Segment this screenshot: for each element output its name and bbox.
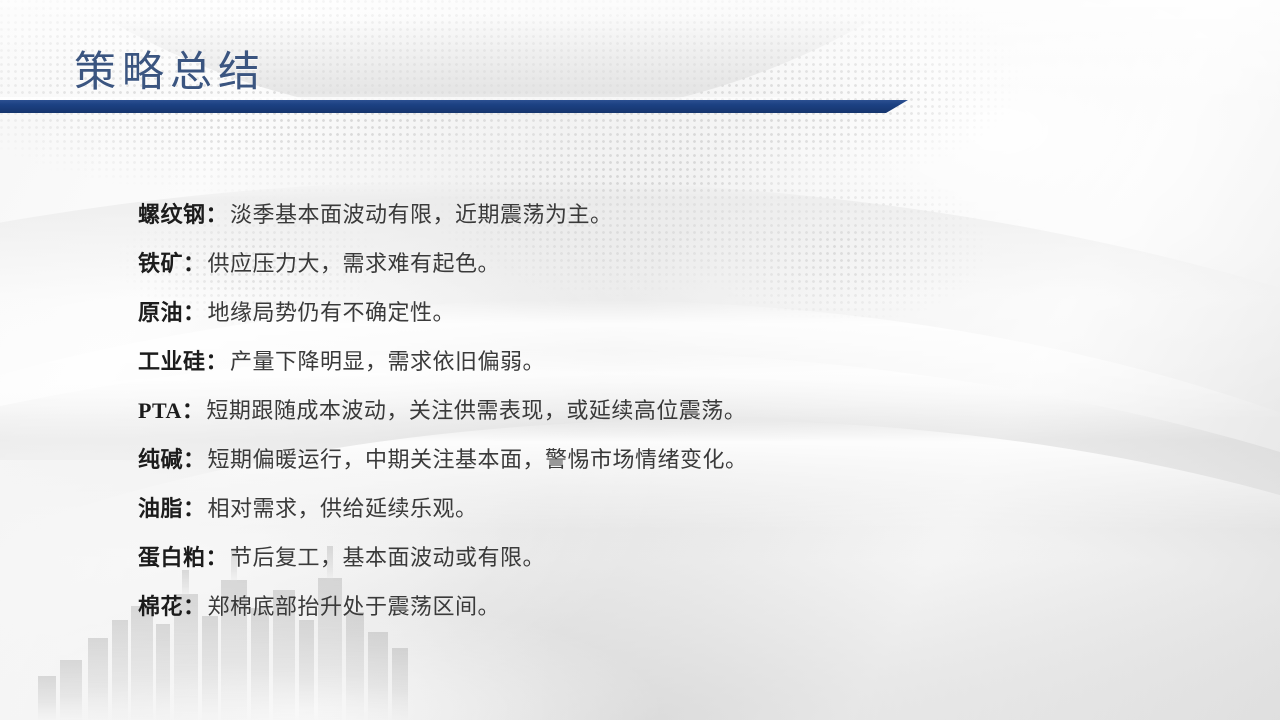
summary-list: 螺纹钢： 淡季基本面波动有限，近期震荡为主。 铁矿： 供应压力大，需求难有起色。…	[0, 188, 1280, 629]
list-item: 原油： 地缘局势仍有不确定性。	[0, 286, 1280, 335]
list-item: 铁矿： 供应压力大，需求难有起色。	[0, 237, 1280, 286]
list-item: 工业硅： 产量下降明显，需求依旧偏弱。	[0, 335, 1280, 384]
commodity-comment: 短期偏暖运行，中期关注基本面，警惕市场情绪变化。	[208, 442, 748, 474]
commodity-label: 棉花：	[138, 589, 206, 621]
commodity-comment: 节后复工，基本面波动或有限。	[230, 540, 545, 572]
list-item: 棉花： 郑棉底部抬升处于震荡区间。	[0, 580, 1280, 629]
list-item: 油脂： 相对需求，供给延续乐观。	[0, 482, 1280, 531]
list-item: 蛋白粕： 节后复工，基本面波动或有限。	[0, 531, 1280, 580]
commodity-comment: 郑棉底部抬升处于震荡区间。	[208, 589, 501, 621]
commodity-label: 油脂：	[138, 491, 206, 523]
commodity-label: PTA：	[138, 393, 204, 425]
page-title: 策略总结	[74, 38, 266, 99]
commodity-label: 铁矿：	[138, 246, 206, 278]
commodity-label: 原油：	[138, 295, 206, 327]
commodity-label: 工业硅：	[138, 344, 228, 376]
commodity-comment: 淡季基本面波动有限，近期震荡为主。	[230, 197, 613, 229]
commodity-comment: 产量下降明显，需求依旧偏弱。	[230, 344, 545, 376]
presentation-slide: 策略总结 螺纹钢： 淡季基本面波动有限，近期震荡为主。 铁矿： 供应压力大，需求…	[0, 0, 1280, 720]
list-item: PTA： 短期跟随成本波动，关注供需表现，或延续高位震荡。	[0, 384, 1280, 433]
commodity-label: 螺纹钢：	[138, 197, 228, 229]
commodity-comment: 相对需求，供给延续乐观。	[208, 491, 478, 523]
commodity-comment: 供应压力大，需求难有起色。	[208, 246, 501, 278]
commodity-label: 纯碱：	[138, 442, 206, 474]
list-item: 螺纹钢： 淡季基本面波动有限，近期震荡为主。	[0, 188, 1280, 237]
navy-rule-bar-icon	[0, 100, 908, 113]
list-item: 纯碱： 短期偏暖运行，中期关注基本面，警惕市场情绪变化。	[0, 433, 1280, 482]
commodity-comment: 短期跟随成本波动，关注供需表现，或延续高位震荡。	[206, 393, 746, 425]
commodity-comment: 地缘局势仍有不确定性。	[208, 295, 456, 327]
commodity-label: 蛋白粕：	[138, 540, 228, 572]
